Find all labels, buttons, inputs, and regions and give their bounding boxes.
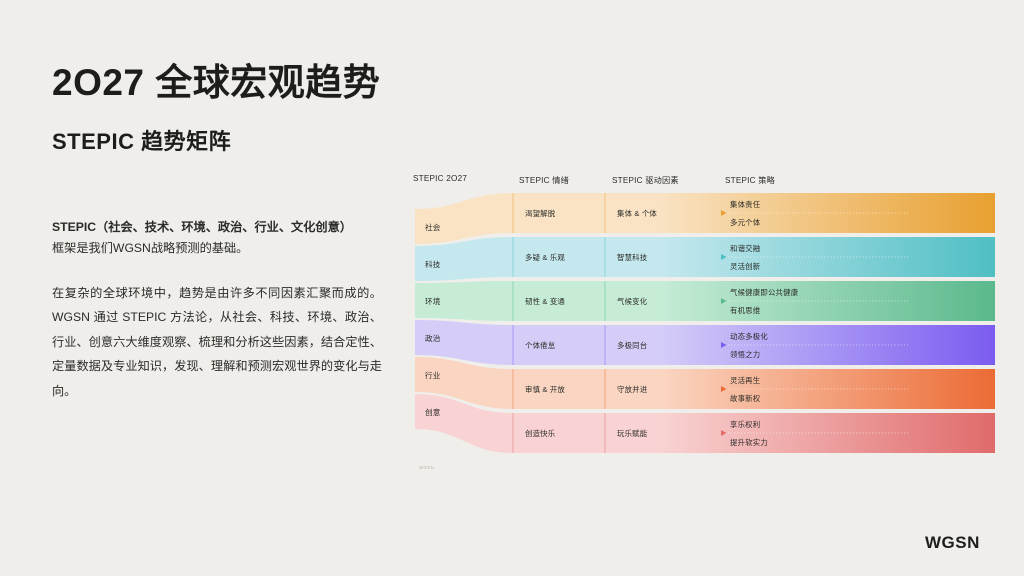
flow-band-科技 bbox=[415, 237, 995, 281]
strategy-label-b-政治: 领悟之力 bbox=[730, 349, 760, 360]
sentiment-label-社会: 渴望解脱 bbox=[525, 208, 555, 219]
strategy-label-b-社会: 多元个体 bbox=[730, 217, 760, 228]
page-title: 2O27 全球宏观趋势 bbox=[52, 62, 380, 105]
sentiment-label-环境: 韧性 & 变通 bbox=[525, 296, 565, 307]
flow-band-政治 bbox=[415, 320, 995, 365]
intro-bold: STEPIC（社会、技术、环境、政治、行业、文化创意） bbox=[52, 220, 352, 234]
column-header-3: STEPIC 策略 bbox=[725, 174, 775, 186]
category-label-创意: 创意 bbox=[425, 407, 441, 418]
strategy-label-a-行业: 灵活再生 bbox=[730, 375, 760, 386]
driver-label-政治: 多极同台 bbox=[617, 340, 647, 351]
driver-label-社会: 集体 & 个体 bbox=[617, 208, 657, 219]
intro-text: STEPIC（社会、技术、环境、政治、行业、文化创意） 框架是我们WGSN战略预… bbox=[52, 217, 382, 260]
slide-root: 2O27 全球宏观趋势 STEPIC 趋势矩阵 STEPIC（社会、技术、环境、… bbox=[0, 0, 1024, 576]
driver-label-行业: 守放并进 bbox=[617, 384, 647, 395]
driver-label-创意: 玩乐赋能 bbox=[617, 428, 647, 439]
strategy-label-a-政治: 动态多极化 bbox=[730, 331, 768, 342]
category-label-社会: 社会 bbox=[425, 222, 441, 233]
diagram-footnote: WGSN bbox=[419, 465, 434, 470]
driver-label-环境: 气候变化 bbox=[617, 296, 647, 307]
category-label-科技: 科技 bbox=[425, 259, 441, 270]
strategy-label-a-社会: 集体责任 bbox=[730, 199, 760, 210]
category-label-环境: 环境 bbox=[425, 296, 441, 307]
category-label-行业: 行业 bbox=[425, 370, 441, 381]
intro-rest: 框架是我们WGSN战略预测的基础。 bbox=[52, 241, 248, 255]
sentiment-label-创意: 创造快乐 bbox=[525, 428, 555, 439]
strategy-label-a-环境: 气候健康即公共健康 bbox=[730, 287, 798, 298]
column-header-1: STEPIC 情绪 bbox=[519, 174, 569, 186]
sentiment-label-科技: 多疑 & 乐观 bbox=[525, 252, 565, 263]
flow-band-社会 bbox=[415, 193, 995, 244]
sentiment-label-行业: 审慎 & 开放 bbox=[525, 384, 565, 395]
strategy-label-b-行业: 故事新权 bbox=[730, 393, 760, 404]
sankey-flow-svg bbox=[405, 165, 1005, 485]
strategy-label-a-创意: 享乐权利 bbox=[730, 419, 760, 430]
body-paragraph: 在复杂的全球环境中，趋势是由许多不同因素汇聚而成的。WGSN 通过 STEPIC… bbox=[52, 281, 382, 403]
column-header-2: STEPIC 驱动因素 bbox=[612, 174, 679, 186]
strategy-label-a-科技: 和谐交融 bbox=[730, 243, 760, 254]
stepic-matrix-diagram: STEPIC 2O27 STEPIC 情绪 STEPIC 驱动因素 STEPIC… bbox=[405, 165, 1005, 485]
strategy-label-b-创意: 提升软实力 bbox=[730, 437, 768, 448]
sentiment-label-政治: 个体倦怠 bbox=[525, 340, 555, 351]
strategy-label-b-环境: 有机思维 bbox=[730, 305, 760, 316]
category-label-政治: 政治 bbox=[425, 333, 441, 344]
strategy-label-b-科技: 灵活创新 bbox=[730, 261, 760, 272]
wgsn-logo: WGSN bbox=[925, 533, 980, 553]
driver-label-科技: 智慧科技 bbox=[617, 252, 647, 263]
page-subtitle: STEPIC 趋势矩阵 bbox=[52, 124, 231, 156]
column-header-0: STEPIC 2O27 bbox=[413, 174, 467, 183]
